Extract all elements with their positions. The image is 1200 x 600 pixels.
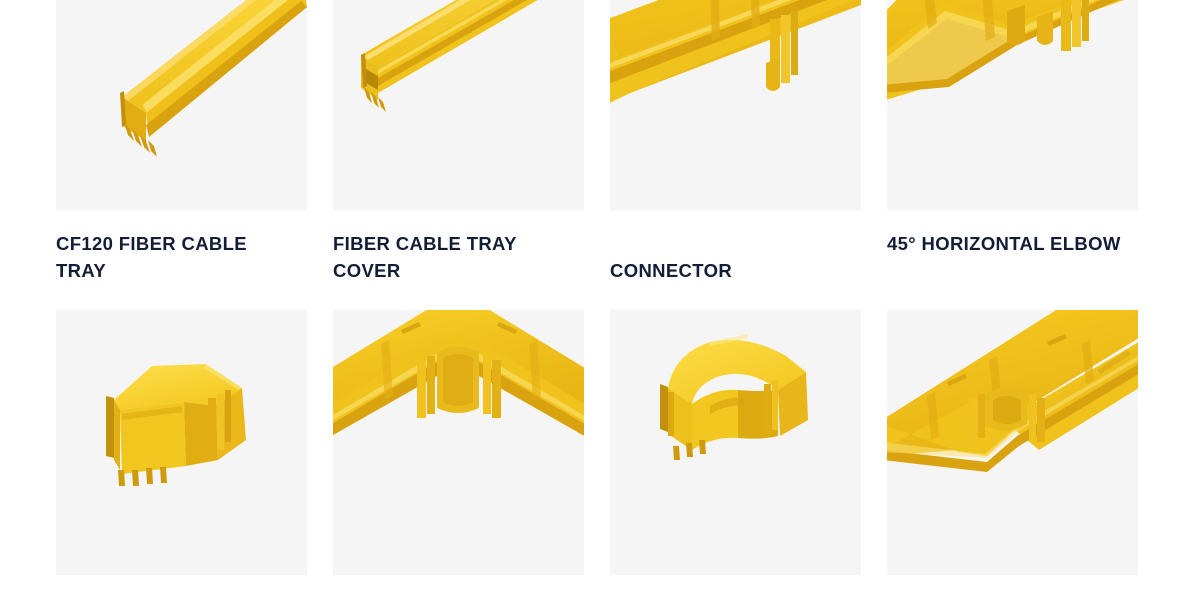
product-title: CF120 FIBER CABLE TRAY: [56, 210, 301, 285]
product-title: CONNECTOR: [610, 210, 855, 285]
product-title: 45° HORIZONTAL ELBOW: [887, 210, 1132, 258]
product-image-cf120-fiber-cable-tray[interactable]: [56, 0, 307, 210]
product-grid: CF120 FIBER CABLE TRAY: [56, 0, 1148, 600]
product-card[interactable]: 45° HORIZONTAL ELBOW: [887, 0, 1138, 285]
product-card[interactable]: 90° HORIZONTAL ELBOW COVER: [610, 310, 861, 600]
product-image-connector[interactable]: [610, 0, 861, 210]
product-title: 45° HORIZONTAL ELBOW COVER: [56, 575, 301, 600]
product-image-90-horizontal-elbow[interactable]: [333, 310, 584, 575]
product-card[interactable]: HORIZONTAL TEE: [887, 310, 1138, 600]
product-card[interactable]: 90° HORIZONTAL ELBOW: [333, 310, 584, 600]
product-image-fiber-cable-tray-cover[interactable]: [333, 0, 584, 210]
product-card[interactable]: CF120 FIBER CABLE TRAY: [56, 0, 307, 285]
product-title: HORIZONTAL TEE: [887, 575, 1132, 600]
product-title: 90° HORIZONTAL ELBOW COVER: [610, 575, 855, 600]
product-title: FIBER CABLE TRAY COVER: [333, 210, 578, 285]
product-title: 90° HORIZONTAL ELBOW: [333, 575, 578, 600]
product-card[interactable]: 45° HORIZONTAL ELBOW COVER: [56, 310, 307, 600]
product-image-90-horizontal-elbow-cover[interactable]: [610, 310, 861, 575]
product-image-45-horizontal-elbow-cover[interactable]: [56, 310, 307, 575]
product-image-45-horizontal-elbow[interactable]: [887, 0, 1138, 210]
product-card[interactable]: FIBER CABLE TRAY COVER: [333, 0, 584, 285]
product-image-horizontal-tee[interactable]: [887, 310, 1138, 575]
product-card[interactable]: CONNECTOR: [610, 0, 861, 285]
product-grid-page: CF120 FIBER CABLE TRAY: [0, 0, 1200, 600]
